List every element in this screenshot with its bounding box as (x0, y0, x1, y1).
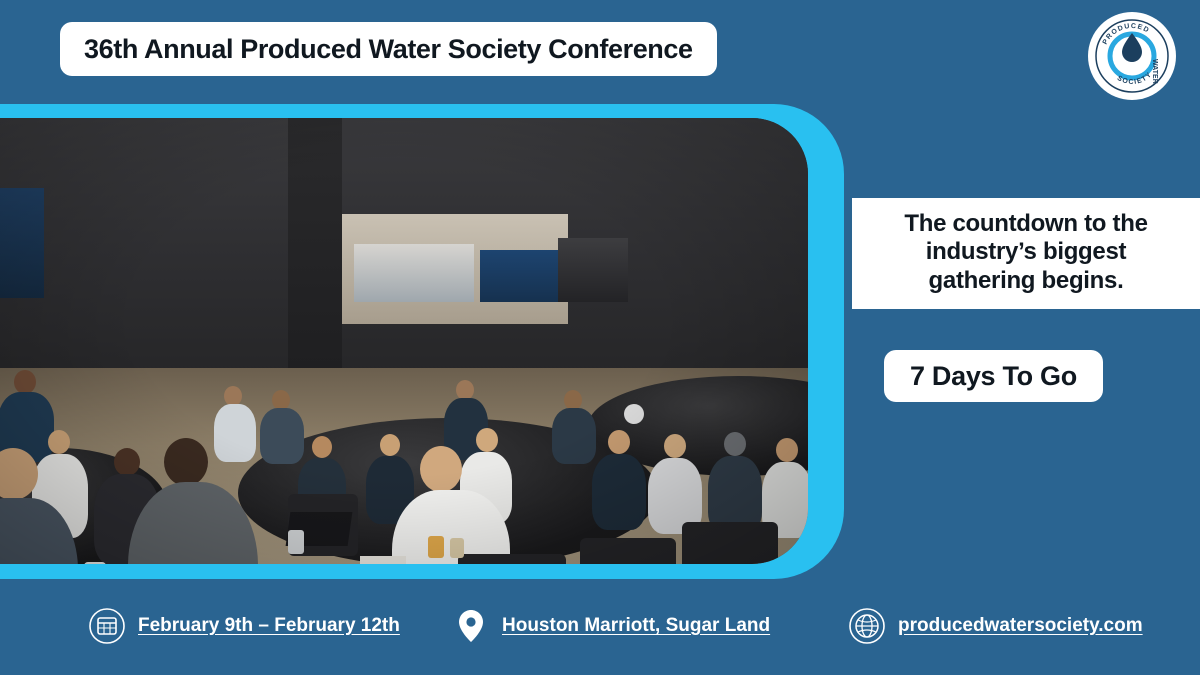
page-title: 36th Annual Produced Water Society Confe… (60, 22, 717, 76)
tagline-block: The countdown to the industry’s biggest … (852, 198, 1200, 309)
calendar-icon (88, 607, 126, 645)
footer-date: February 9th – February 12th (88, 607, 400, 645)
countdown-text: 7 Days To Go (910, 361, 1077, 392)
logo-svg: PRODUCED SOCIETY WATER (1093, 17, 1171, 95)
page-title-text: 36th Annual Produced Water Society Confe… (84, 34, 693, 65)
produced-water-society-logo: PRODUCED SOCIETY WATER (1088, 12, 1176, 100)
photo-vignette (0, 118, 808, 564)
logo-mark: PRODUCED SOCIETY WATER (1093, 17, 1171, 95)
conference-photo (0, 118, 808, 564)
tagline-line-2: industry’s biggest (866, 238, 1186, 266)
footer-website-text[interactable]: producedwatersociety.com (898, 615, 1143, 637)
tagline-line-3: gathering begins. (866, 267, 1186, 295)
photo-accent-frame (0, 104, 844, 579)
tagline-line-1: The countdown to the (866, 210, 1186, 238)
footer-website[interactable]: producedwatersociety.com (848, 607, 1143, 645)
footer-location: Houston Marriott, Sugar Land (452, 607, 770, 645)
footer-location-text: Houston Marriott, Sugar Land (502, 615, 770, 637)
countdown-badge: 7 Days To Go (884, 350, 1103, 402)
footer: February 9th – February 12th Houston Mar… (0, 579, 1200, 675)
globe-icon (848, 607, 886, 645)
svg-text:WATER: WATER (1151, 59, 1158, 84)
footer-date-text: February 9th – February 12th (138, 615, 400, 637)
map-pin-icon (452, 607, 490, 645)
